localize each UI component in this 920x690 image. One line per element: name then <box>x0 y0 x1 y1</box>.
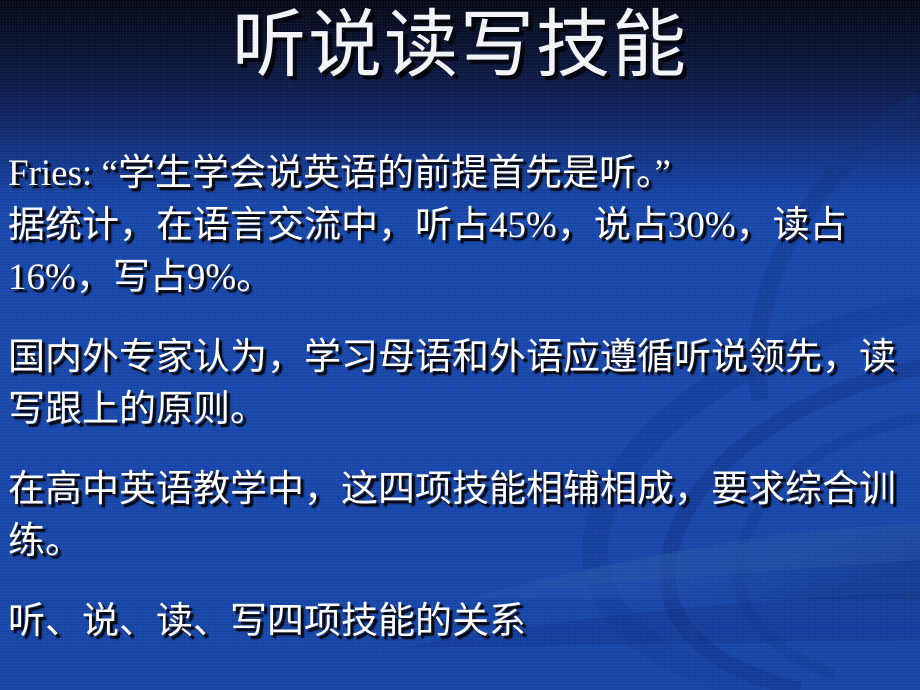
presentation-slide: 听说读写技能 Fries: “学生学会说英语的前提首先是听。” 据统计，在语言交… <box>0 0 920 690</box>
body-paragraph-statistics: 据统计，在语言交流中，听占45%，说占30%，读占16%，写占9%。 <box>8 200 920 304</box>
slide-title: 听说读写技能 <box>0 6 920 87</box>
slide-title-text: 听说读写技能 <box>232 6 688 87</box>
body-paragraph-highschool: 在高中英语教学中，这四项技能相辅相成，要求综合训练。 <box>8 464 920 568</box>
body-paragraph-experts: 国内外专家认为，学习母语和外语应遵循听说领先，读写跟上的原则。 <box>8 332 920 436</box>
body-paragraph-quote: Fries: “学生学会说英语的前提首先是听。” <box>8 148 920 200</box>
slide-body: Fries: “学生学会说英语的前提首先是听。” 据统计，在语言交流中，听占45… <box>8 148 920 648</box>
body-paragraph-relationship: 听、说、读、写四项技能的关系 <box>8 596 920 648</box>
